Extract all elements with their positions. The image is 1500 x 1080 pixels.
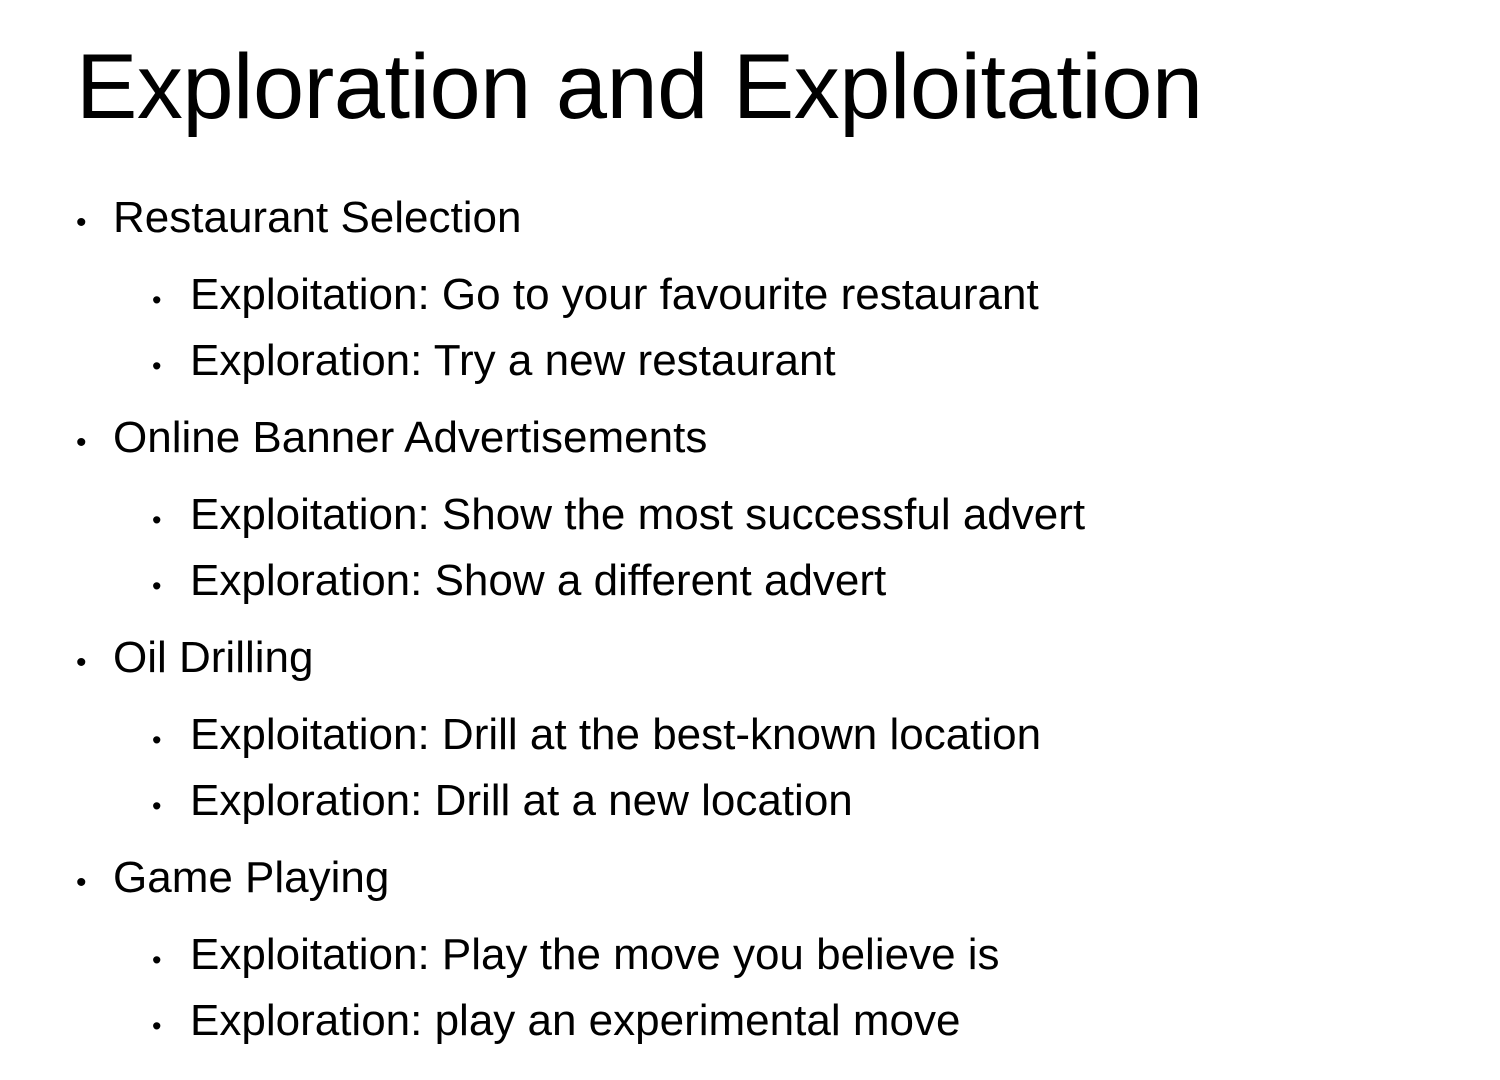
bullet-level2-label: Exploration: Try a new restaurant xyxy=(190,339,836,383)
bullet-level1-label: Online Banner Advertisements xyxy=(113,416,707,460)
sub-list-restaurant-selection: • Exploitation: Go to your favourite res… xyxy=(0,273,1500,405)
bullet-level1-label: Oil Drilling xyxy=(113,636,313,680)
bullet-level2-exploitation: • Exploitation: Show the most successful… xyxy=(0,493,1500,559)
sub-list-online-banner-advertisements: • Exploitation: Show the most successful… xyxy=(0,493,1500,625)
bullet-level2-exploitation: • Exploitation: Play the move you believ… xyxy=(0,933,1500,999)
bullet-group-online-banner-advertisements: • Online Banner Advertisements • Exploit… xyxy=(0,416,1500,625)
bullet-level1-online-banner-advertisements: • Online Banner Advertisements xyxy=(0,416,1500,482)
bullet-dot-icon: • xyxy=(152,727,190,754)
bullet-dot-icon: • xyxy=(152,287,190,314)
bullet-level2-label: Exploration: Drill at a new location xyxy=(190,779,853,823)
bullet-level2-exploration: • Exploration: play an experimental move xyxy=(0,999,1500,1065)
sub-list-oil-drilling: • Exploitation: Drill at the best-known … xyxy=(0,713,1500,845)
bullet-level1-label: Game Playing xyxy=(113,856,389,900)
bullet-dot-icon: • xyxy=(152,1013,190,1040)
bullet-group-oil-drilling: • Oil Drilling • Exploitation: Drill at … xyxy=(0,636,1500,845)
bullet-level2-exploration: • Exploration: Try a new restaurant xyxy=(0,339,1500,405)
bullet-level2-exploration: • Exploration: Show a different advert xyxy=(0,559,1500,625)
bullet-level2-label: Exploitation: Play the move you believe … xyxy=(190,933,1000,977)
bullet-level2-label: Exploitation: Show the most successful a… xyxy=(190,493,1085,537)
bullet-dot-icon: • xyxy=(152,573,190,600)
bullet-level2-exploitation: • Exploitation: Drill at the best-known … xyxy=(0,713,1500,779)
bullet-dot-icon: • xyxy=(152,947,190,974)
slide-body: • Restaurant Selection • Exploitation: G… xyxy=(0,196,1500,1065)
bullet-group-restaurant-selection: • Restaurant Selection • Exploitation: G… xyxy=(0,196,1500,405)
bullet-dot-icon: • xyxy=(152,507,190,534)
bullet-dot-icon: • xyxy=(76,208,113,238)
slide: Exploration and Exploitation • Restauran… xyxy=(0,0,1500,1080)
bullet-level1-game-playing: • Game Playing xyxy=(0,856,1500,922)
bullet-level2-label: Exploration: play an experimental move xyxy=(190,999,960,1043)
bullet-dot-icon: • xyxy=(152,793,190,820)
bullet-dot-icon: • xyxy=(152,353,190,380)
bullet-dot-icon: • xyxy=(76,428,113,458)
bullet-dot-icon: • xyxy=(76,648,113,678)
bullet-level1-label: Restaurant Selection xyxy=(113,196,521,240)
bullet-level1-restaurant-selection: • Restaurant Selection xyxy=(0,196,1500,262)
bullet-dot-icon: • xyxy=(76,868,113,898)
sub-list-game-playing: • Exploitation: Play the move you believ… xyxy=(0,933,1500,1065)
page-title: Exploration and Exploitation xyxy=(76,38,1416,137)
bullet-level2-label: Exploitation: Go to your favourite resta… xyxy=(190,273,1039,317)
bullet-level2-label: Exploitation: Drill at the best-known lo… xyxy=(190,713,1041,757)
bullet-level2-exploration: • Exploration: Drill at a new location xyxy=(0,779,1500,845)
bullet-level2-exploitation: • Exploitation: Go to your favourite res… xyxy=(0,273,1500,339)
bullet-level1-oil-drilling: • Oil Drilling xyxy=(0,636,1500,702)
bullet-group-game-playing: • Game Playing • Exploitation: Play the … xyxy=(0,856,1500,1065)
bullet-level2-label: Exploration: Show a different advert xyxy=(190,559,886,603)
